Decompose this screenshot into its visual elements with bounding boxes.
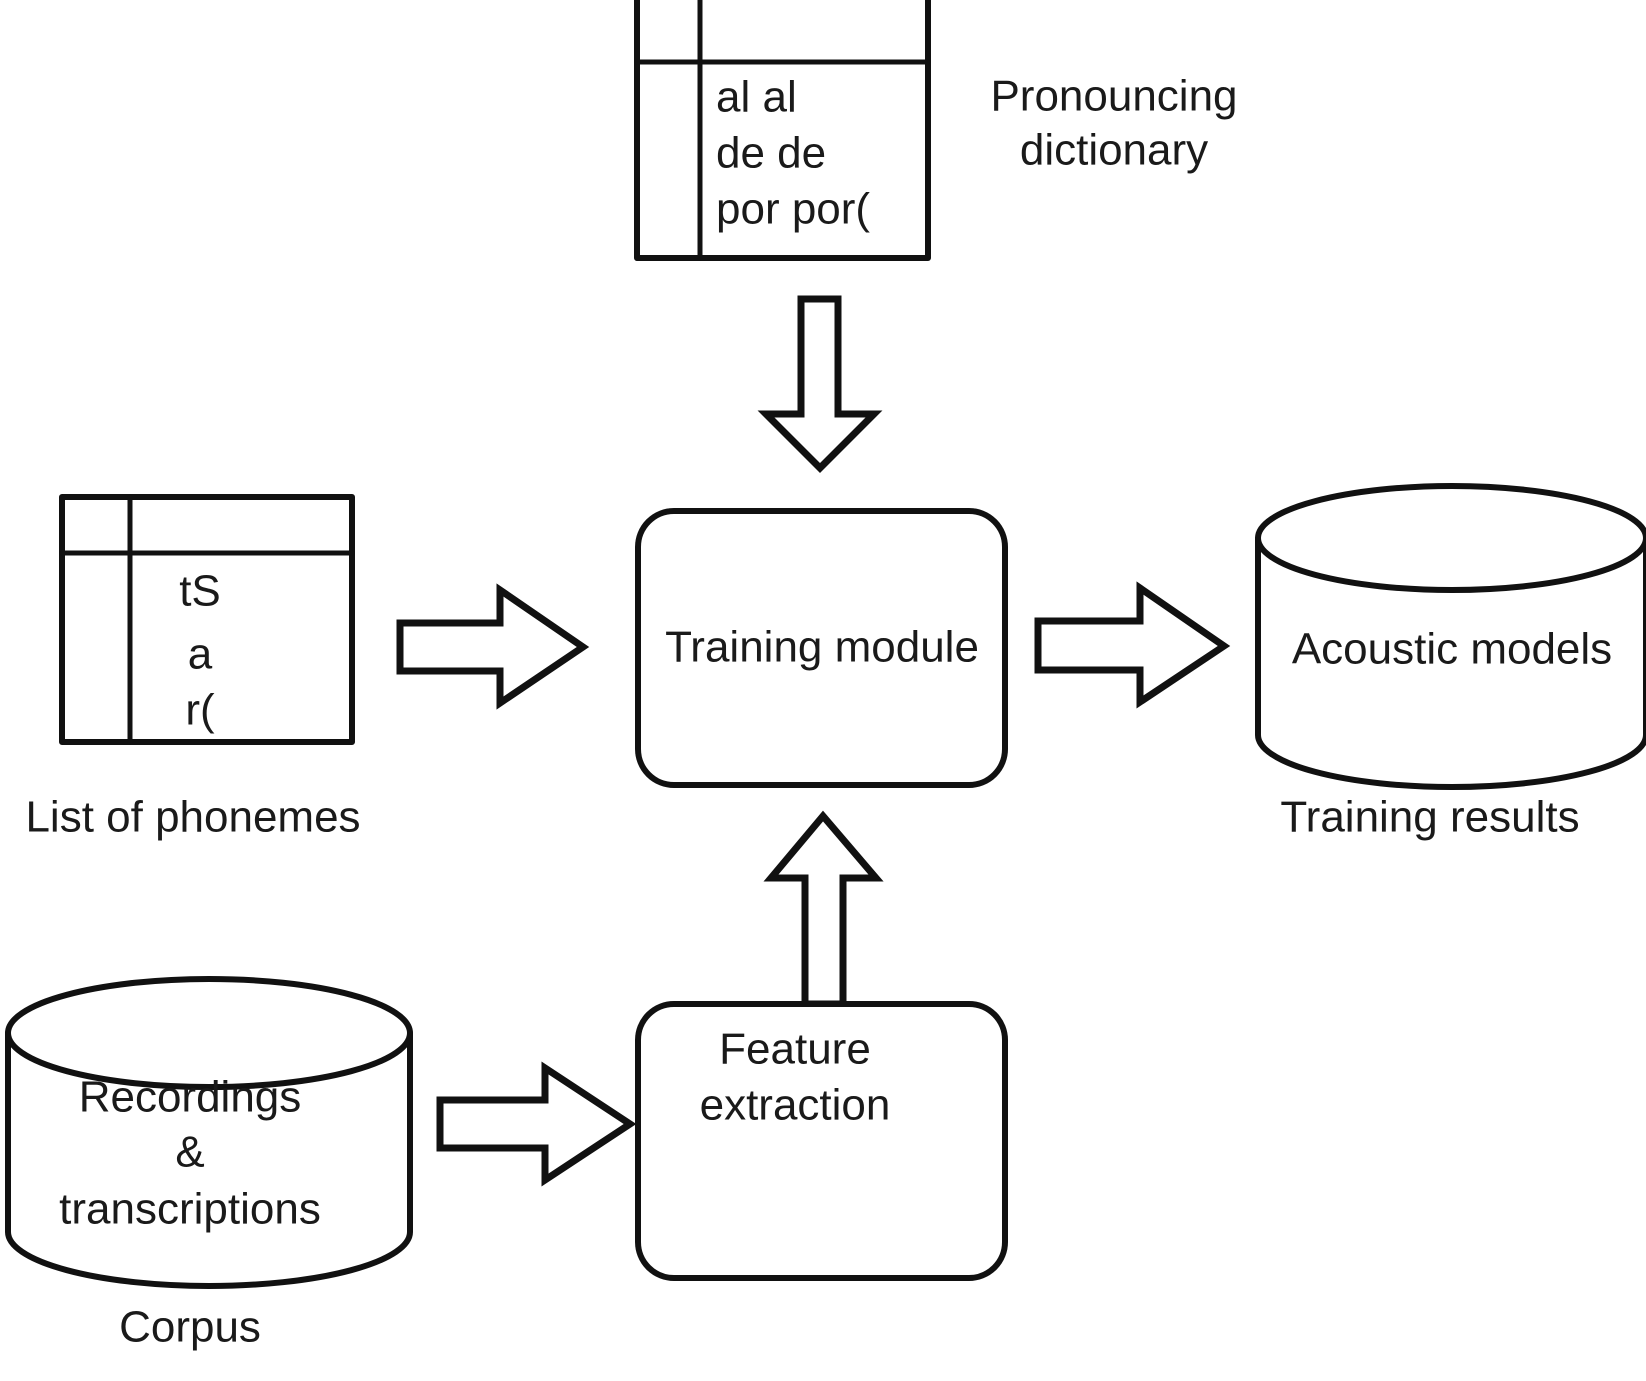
pronouncing-dictionary-caption: Pronouncing dictionary <box>990 72 1237 175</box>
right-arrow-icon-corpus <box>440 1068 630 1180</box>
arrow-phonemes-to-training <box>400 590 583 703</box>
dictionary-entry-1: al al <box>716 73 797 122</box>
acoustic-models-caption: Training results <box>1280 793 1579 842</box>
right-arrow-icon-acoustic <box>1038 588 1224 702</box>
phoneme-entry-3: r( <box>185 686 215 735</box>
feature-extraction-label-line-2: extraction <box>700 1081 891 1130</box>
acoustic-models-cylinder-top <box>1258 486 1646 590</box>
dictionary-caption-line-1: Pronouncing <box>990 72 1237 121</box>
corpus-label-line-3: transcriptions <box>59 1185 321 1234</box>
phoneme-entry-1: tS <box>179 567 221 616</box>
corpus-label-line-1: Recordings <box>79 1073 302 1122</box>
dictionary-caption-line-2: dictionary <box>1020 126 1208 175</box>
training-results-caption: Training results <box>1280 793 1579 842</box>
phoneme-entry-2: a <box>188 630 213 679</box>
acoustic-models-node[interactable]: Acoustic models <box>1258 486 1646 787</box>
acoustic-models-label: Acoustic models <box>1292 625 1612 674</box>
feature-extraction-label-line-1: Feature <box>719 1025 871 1074</box>
pipeline-diagram: al al de de por por( Pronouncing diction… <box>0 0 1646 1381</box>
phoneme-caption: List of phonemes <box>25 793 360 842</box>
training-module-label: Training module <box>665 623 979 672</box>
right-arrow-icon-phonemes <box>400 590 583 703</box>
phoneme-list-node[interactable]: tS a r( <box>62 497 352 742</box>
down-arrow-icon <box>766 299 874 468</box>
phoneme-list-caption: List of phonemes <box>25 793 360 842</box>
dictionary-entry-3: por por( <box>716 185 870 234</box>
feature-extraction-node[interactable]: Feature extraction <box>638 1004 1005 1278</box>
up-arrow-icon <box>771 816 876 1004</box>
arrow-dictionary-to-training <box>766 299 874 468</box>
dictionary-entry-2: de de <box>716 129 826 178</box>
arrow-corpus-to-feature-extraction <box>440 1068 630 1180</box>
corpus-cylinder-top <box>8 979 410 1087</box>
arrow-training-to-acoustic-models <box>1038 588 1224 702</box>
corpus-caption: Corpus <box>119 1303 261 1352</box>
diagram-canvas: al al de de por por( Pronouncing diction… <box>0 0 1646 1381</box>
corpus-node[interactable]: Recordings & transcriptions <box>8 979 410 1286</box>
corpus-caption: Corpus <box>119 1303 261 1352</box>
training-module-node[interactable]: Training module <box>638 511 1005 785</box>
arrow-feature-extraction-to-training <box>771 816 876 1004</box>
pronouncing-dictionary-node[interactable]: al al de de por por( <box>637 0 928 258</box>
corpus-label-line-2: & <box>175 1128 204 1177</box>
